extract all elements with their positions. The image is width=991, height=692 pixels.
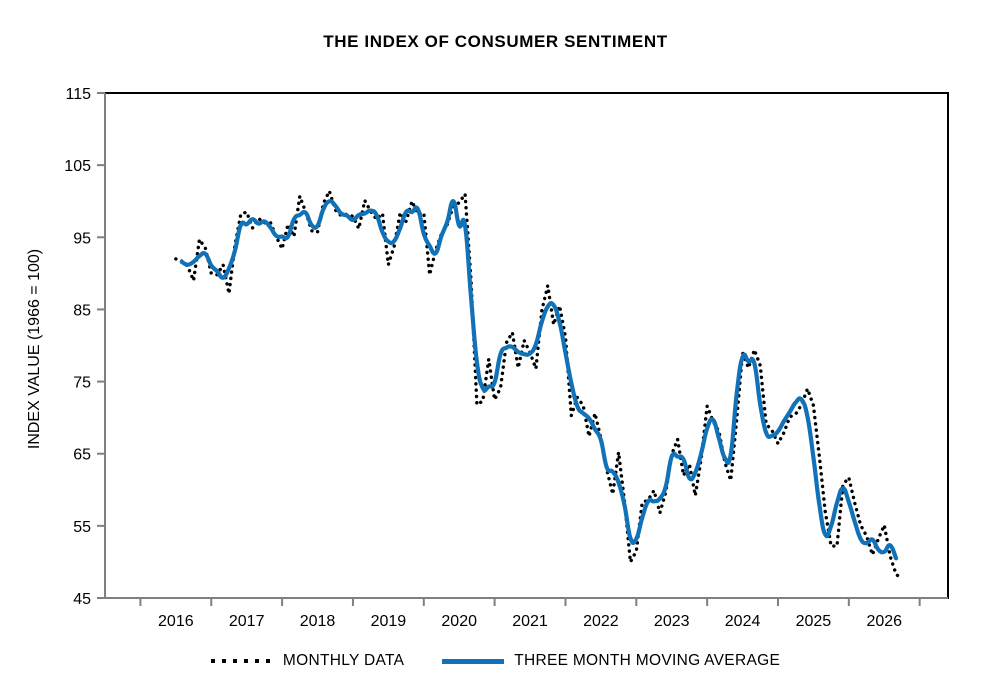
y-tick-label: 45	[73, 591, 91, 608]
monthly-data-line	[176, 191, 902, 579]
chart-legend: MONTHLY DATA THREE MONTH MOVING AVERAGE	[0, 652, 991, 670]
x-tick-label: 2023	[654, 613, 690, 630]
y-tick-label: 85	[73, 302, 91, 319]
x-tick-label: 2021	[512, 613, 548, 630]
legend-item-monthly-data: MONTHLY DATA	[211, 652, 404, 670]
x-tick-label: 2018	[300, 613, 336, 630]
y-tick-label: 95	[73, 230, 91, 247]
y-tick-label: 115	[65, 86, 91, 103]
series-three-month-moving-average	[182, 201, 896, 558]
y-tick-label: 105	[64, 158, 91, 175]
x-tick-label: 2017	[229, 613, 265, 630]
x-tick-label: 2020	[441, 613, 477, 630]
legend-label-monthly-data: MONTHLY DATA	[283, 652, 404, 670]
dotted-line-swatch-icon	[211, 659, 273, 663]
series-monthly-data	[176, 191, 902, 579]
x-tick-label: 2024	[725, 613, 761, 630]
x-tick-label: 2025	[796, 613, 832, 630]
x-tick-label: 2019	[371, 613, 407, 630]
plot-area: 455565758595105115 201620172018201920202…	[0, 0, 991, 692]
chart-container: THE INDEX OF CONSUMER SENTIMENT INDEX VA…	[0, 0, 991, 692]
y-tick-label: 75	[73, 375, 91, 392]
y-tick-label: 55	[73, 519, 91, 536]
x-tick-label: 2016	[158, 613, 194, 630]
x-tick-label: 2022	[583, 613, 619, 630]
moving-average-line	[182, 201, 896, 558]
solid-line-swatch-icon	[442, 659, 504, 664]
x-tick-label: 2026	[866, 613, 902, 630]
y-tick-label: 65	[73, 447, 91, 464]
y-axis: 455565758595105115	[64, 86, 105, 608]
legend-item-moving-average: THREE MONTH MOVING AVERAGE	[442, 652, 780, 670]
x-axis: 2016201720182019202020212022202320242025…	[105, 598, 948, 630]
legend-label-moving-average: THREE MONTH MOVING AVERAGE	[514, 652, 780, 670]
